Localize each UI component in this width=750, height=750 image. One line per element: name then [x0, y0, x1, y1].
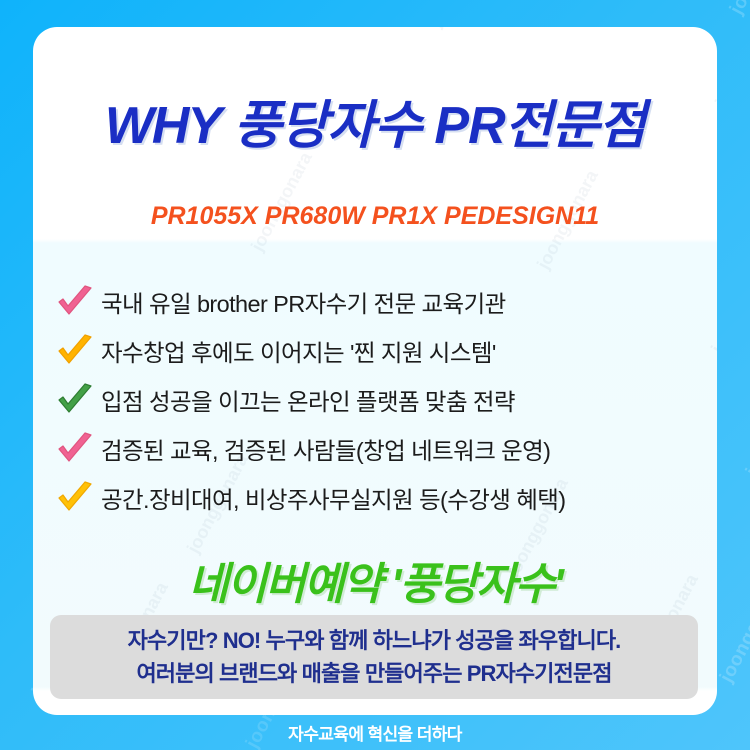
- check-icon: [55, 431, 95, 467]
- page-title-english: WHY: [105, 97, 220, 155]
- page-title-korean: 풍당자수 PR전문점: [234, 97, 646, 155]
- benefit-checklist: 국내 유일 brother PR자수기 전문 교육기관 자수창업 후에도 이어지…: [55, 277, 695, 522]
- watermark: joonggonara: [707, 251, 717, 357]
- watermark: joonggonara: [425, 27, 495, 31]
- list-item: 입점 성공을 이끄는 온라인 플랫폼 맞춤 전략: [55, 375, 695, 424]
- list-item-label: 검증된 교육, 검증된 사람들(창업 네트워크 운영): [101, 432, 550, 466]
- footer-bar: 자수교육에 혁신을 더하다: [0, 714, 750, 750]
- footer-slogan: 자수교육에 혁신을 더하다: [288, 720, 462, 745]
- tagline-banner: 자수기만? NO! 누구와 함께 하느냐가 성공을 좌우합니다. 여러분의 브랜…: [50, 615, 698, 699]
- tagline-line-2: 여러분의 브랜드와 매출을 만들어주는 PR자수기전문점: [136, 657, 611, 690]
- list-item-label: 공간.장비대여, 비상주사무실지원 등(수강생 혜택): [101, 481, 566, 515]
- check-icon: [55, 333, 95, 369]
- watermark: joonggonara: [716, 570, 750, 687]
- check-icon: [55, 284, 95, 320]
- list-item: 공간.장비대여, 비상주사무실지원 등(수강생 혜택): [55, 473, 695, 522]
- model-subtitle: PR1055X PR680W PR1X PEDESIGN11: [33, 202, 717, 231]
- watermark: joonggonara: [742, 364, 750, 481]
- list-item-label: 국내 유일 brother PR자수기 전문 교육기관: [101, 285, 506, 319]
- check-icon: [55, 382, 95, 418]
- tagline-line-1: 자수기만? NO! 누구와 함께 하느냐가 성공을 좌우합니다.: [128, 624, 621, 657]
- check-icon: [55, 480, 95, 516]
- list-item-label: 자수창업 후에도 이어지는 '찐 지원 시스템': [101, 334, 496, 368]
- promo-poster: joonggonara joonggonara joonggonara joon…: [0, 0, 750, 750]
- naver-reservation-callout: 네이버예약 '풍당자수': [33, 548, 717, 612]
- list-item-label: 입점 성공을 이끄는 온라인 플랫폼 맞춤 전략: [101, 383, 515, 417]
- list-item: 자수창업 후에도 이어지는 '찐 지원 시스템': [55, 326, 695, 375]
- watermark: joonggonara: [726, 0, 750, 18]
- page-title: WHY 풍당자수 PR전문점: [33, 83, 717, 158]
- list-item: 국내 유일 brother PR자수기 전문 교육기관: [55, 277, 695, 326]
- content-card: joonggonara joonggonara joonggonara joon…: [33, 27, 717, 715]
- list-item: 검증된 교육, 검증된 사람들(창업 네트워크 운영): [55, 424, 695, 473]
